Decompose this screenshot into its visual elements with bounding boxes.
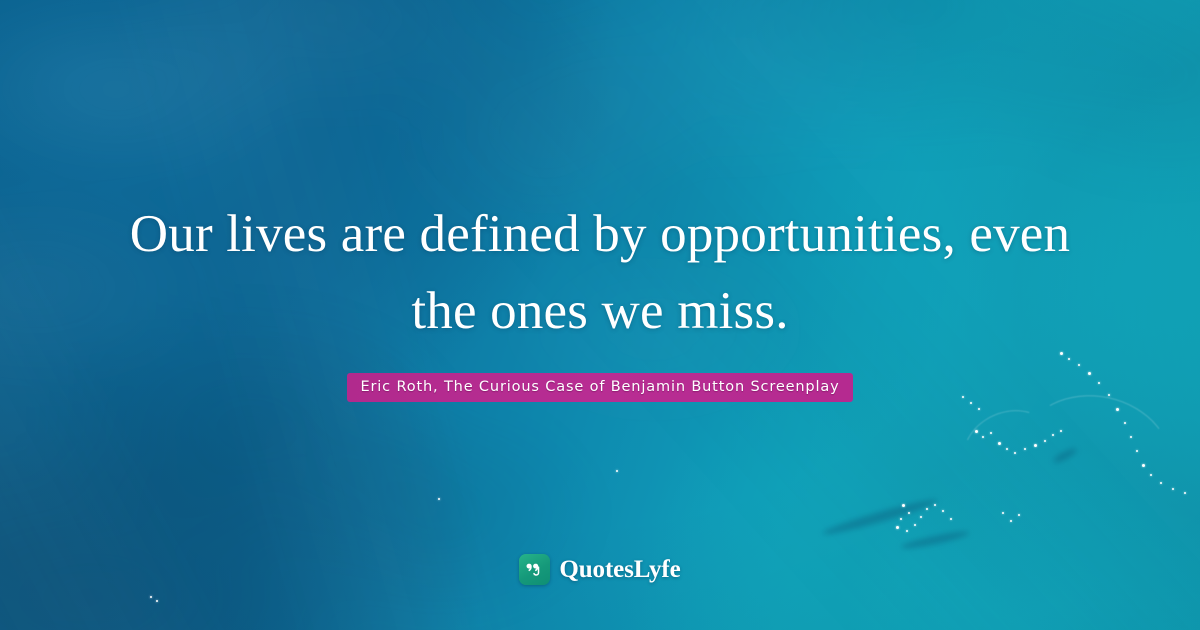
quote-mark-icon [519,554,550,585]
brand-name: QuotesLyfe [559,556,680,584]
attribution-container: Eric Roth, The Curious Case of Benjamin … [0,373,1200,402]
attribution-banner[interactable]: Eric Roth, The Curious Case of Benjamin … [347,373,852,402]
quote-text: Our lives are defined by opportunities, … [0,196,1200,351]
brand-logo[interactable]: QuotesLyfe [0,554,1200,585]
quote-card: Our lives are defined by opportunities, … [0,0,1200,630]
